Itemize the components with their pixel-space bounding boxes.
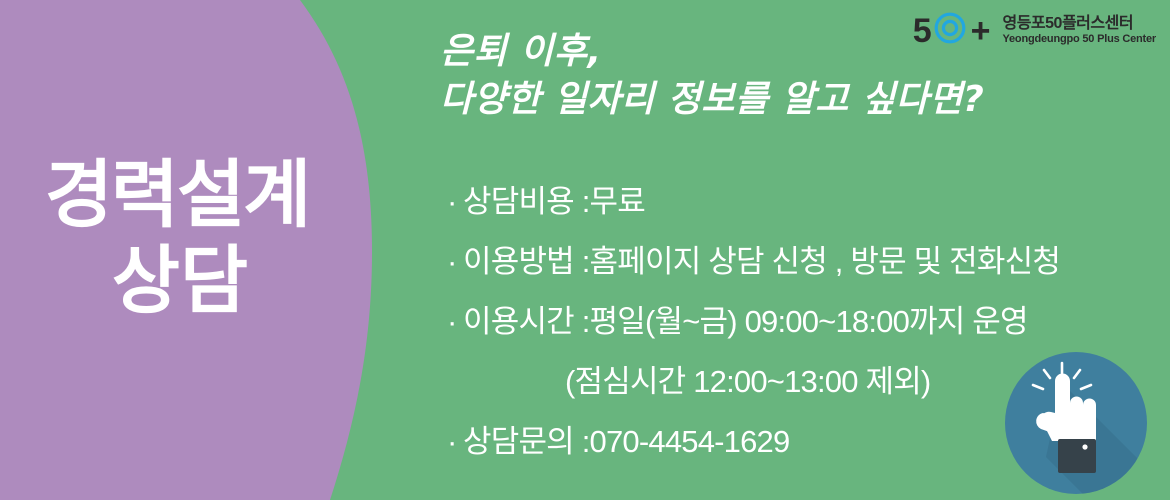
detail-label-method: 이용방법 <box>463 244 574 279</box>
contact-phone-number: 070-4454-1629 <box>590 424 790 459</box>
bullet-icon: · <box>447 292 463 352</box>
logo-digit-five: 5 <box>913 14 931 48</box>
sleeve-cuff <box>1058 439 1096 473</box>
logo-wordmark: 영등포50플러스센터 Yeongdeungpo 50 Plus Center <box>1002 16 1156 45</box>
detail-label-contact: 상담문의 <box>463 424 574 459</box>
title-line-2: 상담 <box>0 238 360 324</box>
detail-value-method: 홈페이지 상담 신청 , 방문 및 전화신청 <box>590 244 1061 279</box>
detail-row-cost: ·상담비용 :무료 <box>447 172 1060 232</box>
detail-label-hours: 이용시간 <box>463 304 574 339</box>
target-circle-icon <box>932 10 968 51</box>
bullet-icon: · <box>447 412 463 472</box>
headline-line-2: 다양한 일자리 정보를 알고 싶다면? <box>440 76 984 124</box>
detail-separator: : <box>582 424 590 459</box>
headline-line-1: 은퇴 이후, <box>440 28 984 76</box>
lunch-break-note: (점심시간 12:00~13:00 제외) <box>565 364 930 399</box>
detail-separator: : <box>582 184 590 219</box>
logo-name-english: Yeongdeungpo 50 Plus Center <box>1002 34 1156 46</box>
detail-value-hours: 평일(월~금) 09:00~18:00까지 운영 <box>590 304 1028 339</box>
detail-separator: : <box>582 244 590 279</box>
pointing-hand-click-icon <box>1000 347 1152 499</box>
detail-row-method: ·이용방법 :홈페이지 상담 신청 , 방문 및 전화신청 <box>447 232 1060 292</box>
title-line-1: 경력설계 <box>0 152 360 238</box>
bullet-icon: · <box>447 172 463 232</box>
logo-mark: 5 + <box>913 10 991 51</box>
detail-label-cost: 상담비용 <box>463 184 574 219</box>
detail-row-contact: ·상담문의 :070-4454-1629 <box>447 412 1060 472</box>
left-panel-title: 경력설계 상담 <box>0 152 360 324</box>
detail-list: ·상담비용 :무료 ·이용방법 :홈페이지 상담 신청 , 방문 및 전화신청 … <box>447 172 1060 472</box>
promo-banner: 5 + 영등포50플러스센터 Yeongdeungpo 50 Plus Cent… <box>0 0 1170 500</box>
cuff-button <box>1082 444 1087 449</box>
logo-name-korean: 영등포50플러스센터 <box>1002 16 1156 33</box>
detail-separator: : <box>582 304 590 339</box>
detail-value-cost: 무료 <box>590 184 645 219</box>
detail-row-hours: ·이용시간 :평일(월~금) 09:00~18:00까지 운영 <box>447 292 1060 352</box>
bullet-icon: · <box>447 232 463 292</box>
logo-plus-sign: + <box>971 14 991 48</box>
center-logo: 5 + 영등포50플러스센터 Yeongdeungpo 50 Plus Cent… <box>913 10 1156 51</box>
detail-row-lunch-note: (점심시간 12:00~13:00 제외) <box>447 352 1060 412</box>
headline: 은퇴 이후, 다양한 일자리 정보를 알고 싶다면? <box>440 28 984 124</box>
